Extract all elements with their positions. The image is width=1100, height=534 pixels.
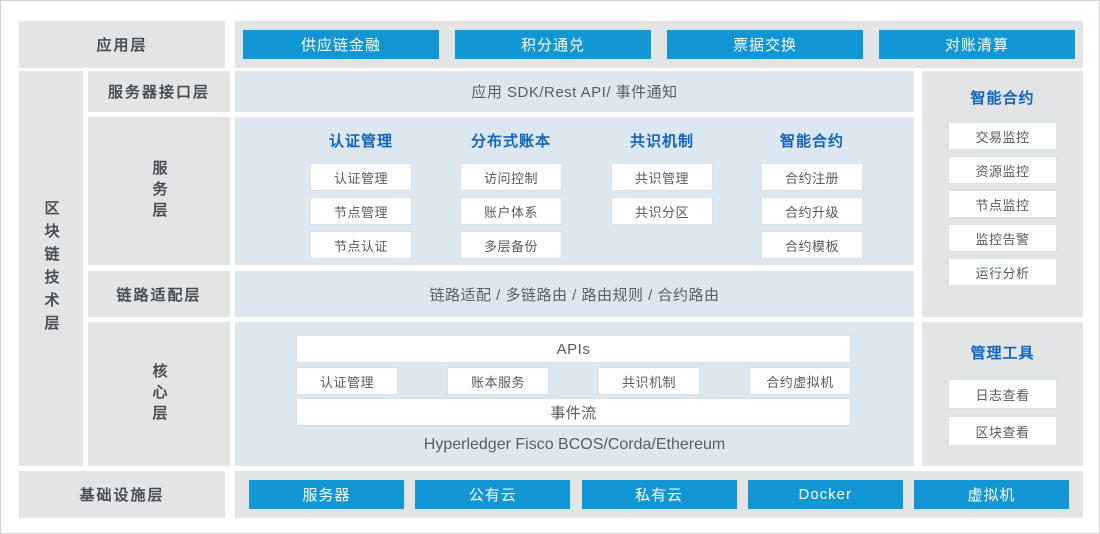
link-adapter-band: 链路适配 / 多链路由 / 路由规则 / 合约路由 bbox=[235, 271, 914, 317]
service-item[interactable]: 节点认证 bbox=[310, 231, 412, 259]
service-item[interactable]: 合约升级 bbox=[761, 197, 863, 225]
service-item[interactable]: 节点管理 bbox=[310, 197, 412, 225]
core-module-label: 合约虚拟机 bbox=[766, 372, 834, 391]
service-item[interactable]: 认证管理 bbox=[310, 163, 412, 191]
link-adapter-layer-label-text: 链路适配层 bbox=[116, 284, 201, 305]
core-module-label: 认证管理 bbox=[320, 372, 374, 391]
application-layer-label-text: 应用层 bbox=[96, 34, 147, 55]
service-column-0-title: 认证管理 bbox=[286, 130, 436, 151]
monitor-item-label: 监控告警 bbox=[975, 229, 1029, 248]
service-column-3-items: 合约注册 合约升级 合约模板 bbox=[737, 163, 887, 259]
app-button-1-label: 积分通兑 bbox=[521, 34, 585, 55]
right-panel-smart-contract-title: 智能合约 bbox=[922, 87, 1083, 108]
monitor-item-label: 资源监控 bbox=[975, 161, 1029, 180]
core-module[interactable]: 共识机制 bbox=[598, 367, 700, 395]
service-item-label: 多层备份 bbox=[484, 236, 538, 255]
service-layer-band: 认证管理 认证管理 节点管理 节点认证 分布式账本 访问控制 账户体系 多层备份 bbox=[235, 117, 914, 265]
infra-button-3[interactable]: Docker bbox=[748, 480, 903, 509]
service-item-label: 合约升级 bbox=[785, 202, 839, 221]
application-layer-label: 应用层 bbox=[19, 21, 225, 68]
core-module[interactable]: 账本服务 bbox=[447, 367, 549, 395]
service-column-2: 共识机制 共识管理 共识分区 bbox=[587, 130, 737, 225]
link-adapter-band-text: 链路适配 / 多链路由 / 路由规则 / 合约路由 bbox=[235, 271, 914, 317]
app-button-2-label: 票据交换 bbox=[733, 34, 797, 55]
core-layer-band: APIs 认证管理 账本服务 共识机制 合约虚拟机 事件流 Hyperledge… bbox=[235, 322, 914, 466]
infra-button-3-label: Docker bbox=[798, 486, 852, 503]
service-item-label: 账户体系 bbox=[484, 202, 538, 221]
service-item-label: 节点管理 bbox=[334, 202, 388, 221]
monitor-item[interactable]: 监控告警 bbox=[948, 224, 1057, 252]
service-column-1-items: 访问控制 账户体系 多层备份 bbox=[436, 163, 586, 259]
service-layer-label: 服务层 bbox=[88, 117, 230, 265]
app-button-0-label: 供应链金融 bbox=[301, 34, 381, 55]
service-item-label: 合约注册 bbox=[785, 168, 839, 187]
app-button-3-label: 对账清算 bbox=[945, 34, 1009, 55]
core-event-stream-bar[interactable]: 事件流 bbox=[296, 398, 851, 426]
core-module[interactable]: 合约虚拟机 bbox=[749, 367, 851, 395]
infrastructure-layer-band: 服务器 公有云 私有云 Docker 虚拟机 bbox=[235, 471, 1083, 518]
infrastructure-items-row: 服务器 公有云 私有云 Docker 虚拟机 bbox=[249, 480, 1069, 509]
service-column-1-title: 分布式账本 bbox=[436, 130, 586, 151]
app-button-2[interactable]: 票据交换 bbox=[667, 30, 863, 59]
service-item[interactable]: 账户体系 bbox=[460, 197, 562, 225]
server-interface-layer-label-text: 服务器接口层 bbox=[108, 81, 210, 102]
right-panel-smart-contract-items: 交易监控 资源监控 节点监控 监控告警 运行分析 bbox=[922, 122, 1083, 286]
core-modules-row: 认证管理 账本服务 共识机制 合约虚拟机 bbox=[296, 367, 851, 393]
monitor-item[interactable]: 资源监控 bbox=[948, 156, 1057, 184]
server-interface-layer-label: 服务器接口层 bbox=[88, 71, 230, 112]
service-item[interactable]: 共识分区 bbox=[611, 197, 713, 225]
service-column-3-title: 智能合约 bbox=[737, 130, 887, 151]
tool-item-label: 区块查看 bbox=[975, 422, 1029, 441]
monitor-item[interactable]: 节点监控 bbox=[948, 190, 1057, 218]
app-button-1[interactable]: 积分通兑 bbox=[455, 30, 651, 59]
service-item-label: 共识管理 bbox=[635, 168, 689, 187]
service-item-label: 节点认证 bbox=[334, 236, 388, 255]
right-panel-management-tools-items: 日志查看 区块查看 bbox=[922, 379, 1083, 446]
service-item-label: 访问控制 bbox=[484, 168, 538, 187]
blockchain-tech-layer-rail-text: 区块链技术层 bbox=[44, 200, 59, 338]
core-footer-text-label: Hyperledger Fisco BCOS/Corda/Ethereum bbox=[424, 436, 725, 454]
infrastructure-layer-label: 基础设施层 bbox=[19, 471, 225, 518]
core-apis-bar[interactable]: APIs bbox=[296, 335, 851, 363]
core-layer-label-text: 核心层 bbox=[152, 363, 167, 426]
infra-button-1-label: 公有云 bbox=[469, 484, 517, 505]
application-items-row: 供应链金融 积分通兑 票据交换 对账清算 bbox=[243, 30, 1075, 59]
service-column-2-items: 共识管理 共识分区 bbox=[587, 163, 737, 225]
infra-button-1[interactable]: 公有云 bbox=[415, 480, 570, 509]
app-button-3[interactable]: 对账清算 bbox=[879, 30, 1075, 59]
monitor-item[interactable]: 交易监控 bbox=[948, 122, 1057, 150]
infra-button-0[interactable]: 服务器 bbox=[249, 480, 404, 509]
core-module-label: 账本服务 bbox=[471, 372, 525, 391]
service-layer-label-text: 服务层 bbox=[152, 160, 167, 223]
core-event-stream-label: 事件流 bbox=[550, 402, 597, 423]
service-column-3: 智能合约 合约注册 合约升级 合约模板 bbox=[737, 130, 887, 259]
monitor-item-label: 节点监控 bbox=[975, 195, 1029, 214]
tool-item[interactable]: 日志查看 bbox=[948, 379, 1057, 409]
tool-item-label: 日志查看 bbox=[975, 385, 1029, 404]
blockchain-tech-layer-rail: 区块链技术层 bbox=[19, 71, 83, 466]
service-item[interactable]: 合约模板 bbox=[761, 231, 863, 259]
monitor-item[interactable]: 运行分析 bbox=[948, 258, 1057, 286]
service-item-label: 认证管理 bbox=[334, 168, 388, 187]
service-item-label: 共识分区 bbox=[635, 202, 689, 221]
monitor-item-label: 运行分析 bbox=[975, 263, 1029, 282]
server-interface-band-text: 应用 SDK/Rest API/ 事件通知 bbox=[235, 71, 914, 112]
link-adapter-layer-label: 链路适配层 bbox=[88, 271, 230, 317]
application-layer-band: 供应链金融 积分通兑 票据交换 对账清算 bbox=[235, 21, 1083, 68]
core-footer-text: Hyperledger Fisco BCOS/Corda/Ethereum bbox=[235, 430, 914, 460]
infrastructure-layer-label-text: 基础设施层 bbox=[79, 484, 164, 505]
service-column-0-items: 认证管理 节点管理 节点认证 bbox=[286, 163, 436, 259]
core-apis-bar-label: APIs bbox=[557, 341, 591, 358]
right-panel-management-tools: 管理工具 日志查看 区块查看 bbox=[922, 322, 1083, 466]
server-interface-band: 应用 SDK/Rest API/ 事件通知 bbox=[235, 71, 914, 112]
core-module[interactable]: 认证管理 bbox=[296, 367, 398, 395]
infra-button-0-label: 服务器 bbox=[302, 484, 350, 505]
infra-button-2[interactable]: 私有云 bbox=[582, 480, 737, 509]
service-column-2-title: 共识机制 bbox=[587, 130, 737, 151]
service-item[interactable]: 共识管理 bbox=[611, 163, 713, 191]
service-item[interactable]: 访问控制 bbox=[460, 163, 562, 191]
core-layer-label: 核心层 bbox=[88, 322, 230, 466]
infra-button-4-label: 虚拟机 bbox=[967, 484, 1015, 505]
right-panel-smart-contract: 智能合约 交易监控 资源监控 节点监控 监控告警 运行分析 bbox=[922, 71, 1083, 317]
right-panel-management-tools-title: 管理工具 bbox=[922, 342, 1083, 363]
infra-button-4[interactable]: 虚拟机 bbox=[914, 480, 1069, 509]
architecture-diagram: 应用层 供应链金融 积分通兑 票据交换 对账清算 区块链技术层 服务器接口层 应… bbox=[0, 0, 1100, 534]
service-item-label: 合约模板 bbox=[785, 236, 839, 255]
core-module-label: 共识机制 bbox=[622, 372, 676, 391]
service-item[interactable]: 合约注册 bbox=[761, 163, 863, 191]
tool-item[interactable]: 区块查看 bbox=[948, 416, 1057, 446]
infra-button-2-label: 私有云 bbox=[635, 484, 683, 505]
monitor-item-label: 交易监控 bbox=[975, 127, 1029, 146]
service-column-0: 认证管理 认证管理 节点管理 节点认证 bbox=[286, 130, 436, 259]
app-button-0[interactable]: 供应链金融 bbox=[243, 30, 439, 59]
service-column-1: 分布式账本 访问控制 账户体系 多层备份 bbox=[436, 130, 586, 259]
service-item[interactable]: 多层备份 bbox=[460, 231, 562, 259]
